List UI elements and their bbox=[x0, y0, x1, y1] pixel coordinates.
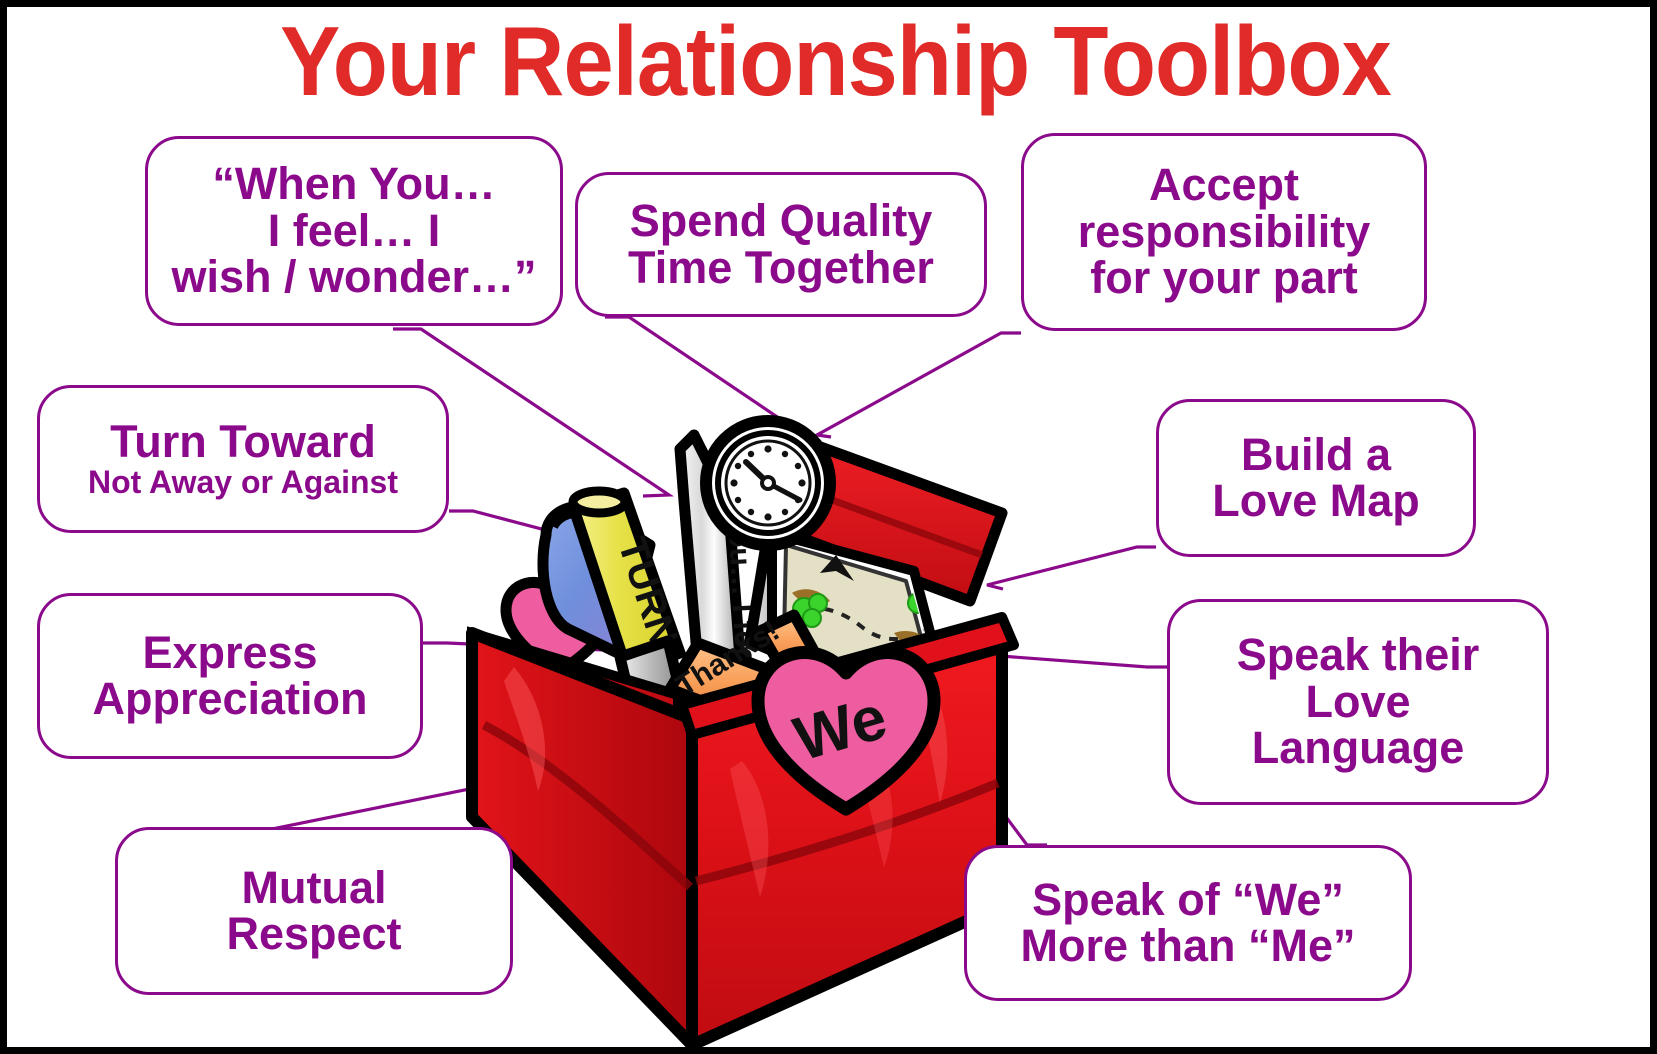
callout-line: responsibility bbox=[1078, 209, 1371, 255]
callout-line: Accept bbox=[1149, 162, 1299, 208]
callout-line: Mutual bbox=[242, 865, 387, 911]
pocket-watch-clock bbox=[706, 421, 830, 545]
callout-build-a-love-map[interactable]: Build a Love Map bbox=[1156, 399, 1476, 557]
callout-line: Speak their bbox=[1237, 632, 1480, 678]
callout-line: Appreciation bbox=[92, 676, 367, 722]
callout-mutual-respect[interactable]: Mutual Respect bbox=[115, 827, 513, 995]
callout-line: Express bbox=[142, 630, 317, 676]
callout-line: Love bbox=[1305, 679, 1410, 725]
callout-line: More than “Me” bbox=[1020, 923, 1355, 969]
toolbox-illustration: TURN you… I feel… bbox=[442, 405, 1032, 1054]
callout-line: for your part bbox=[1090, 255, 1358, 301]
callout-line: I feel… I bbox=[268, 208, 441, 254]
callout-subtext: Not Away or Against bbox=[88, 466, 398, 499]
callout-line: Spend Quality bbox=[630, 198, 933, 244]
callout-speak-their-love-language[interactable]: Speak their Love Language bbox=[1167, 599, 1549, 805]
infographic-canvas: Your Relationship Toolbox bbox=[0, 0, 1657, 1054]
callout-line: “When You… bbox=[212, 161, 495, 207]
callout-line: Build a bbox=[1241, 432, 1391, 478]
callout-when-you-i-feel[interactable]: “When You… I feel… I wish / wonder…” bbox=[145, 136, 563, 326]
callout-line: Love Map bbox=[1212, 478, 1420, 524]
callout-line: Speak of “We” bbox=[1032, 877, 1344, 923]
callout-turn-toward[interactable]: Turn Toward Not Away or Against bbox=[37, 385, 449, 533]
callout-line: Respect bbox=[226, 911, 401, 957]
callout-express-appreciation[interactable]: Express Appreciation bbox=[37, 593, 423, 759]
callout-line: Time Together bbox=[628, 245, 934, 291]
callout-accept-responsibility[interactable]: Accept responsibility for your part bbox=[1021, 133, 1427, 331]
callout-speak-of-we-more-than-me[interactable]: Speak of “We” More than “Me” bbox=[964, 845, 1412, 1001]
callout-line: wish / wonder…” bbox=[171, 254, 536, 300]
callout-line: Language bbox=[1252, 725, 1465, 771]
page-title: Your Relationship Toolbox bbox=[73, 9, 1597, 113]
callout-spend-quality-time[interactable]: Spend Quality Time Together bbox=[575, 172, 987, 317]
callout-heading: Turn Toward bbox=[110, 419, 376, 465]
